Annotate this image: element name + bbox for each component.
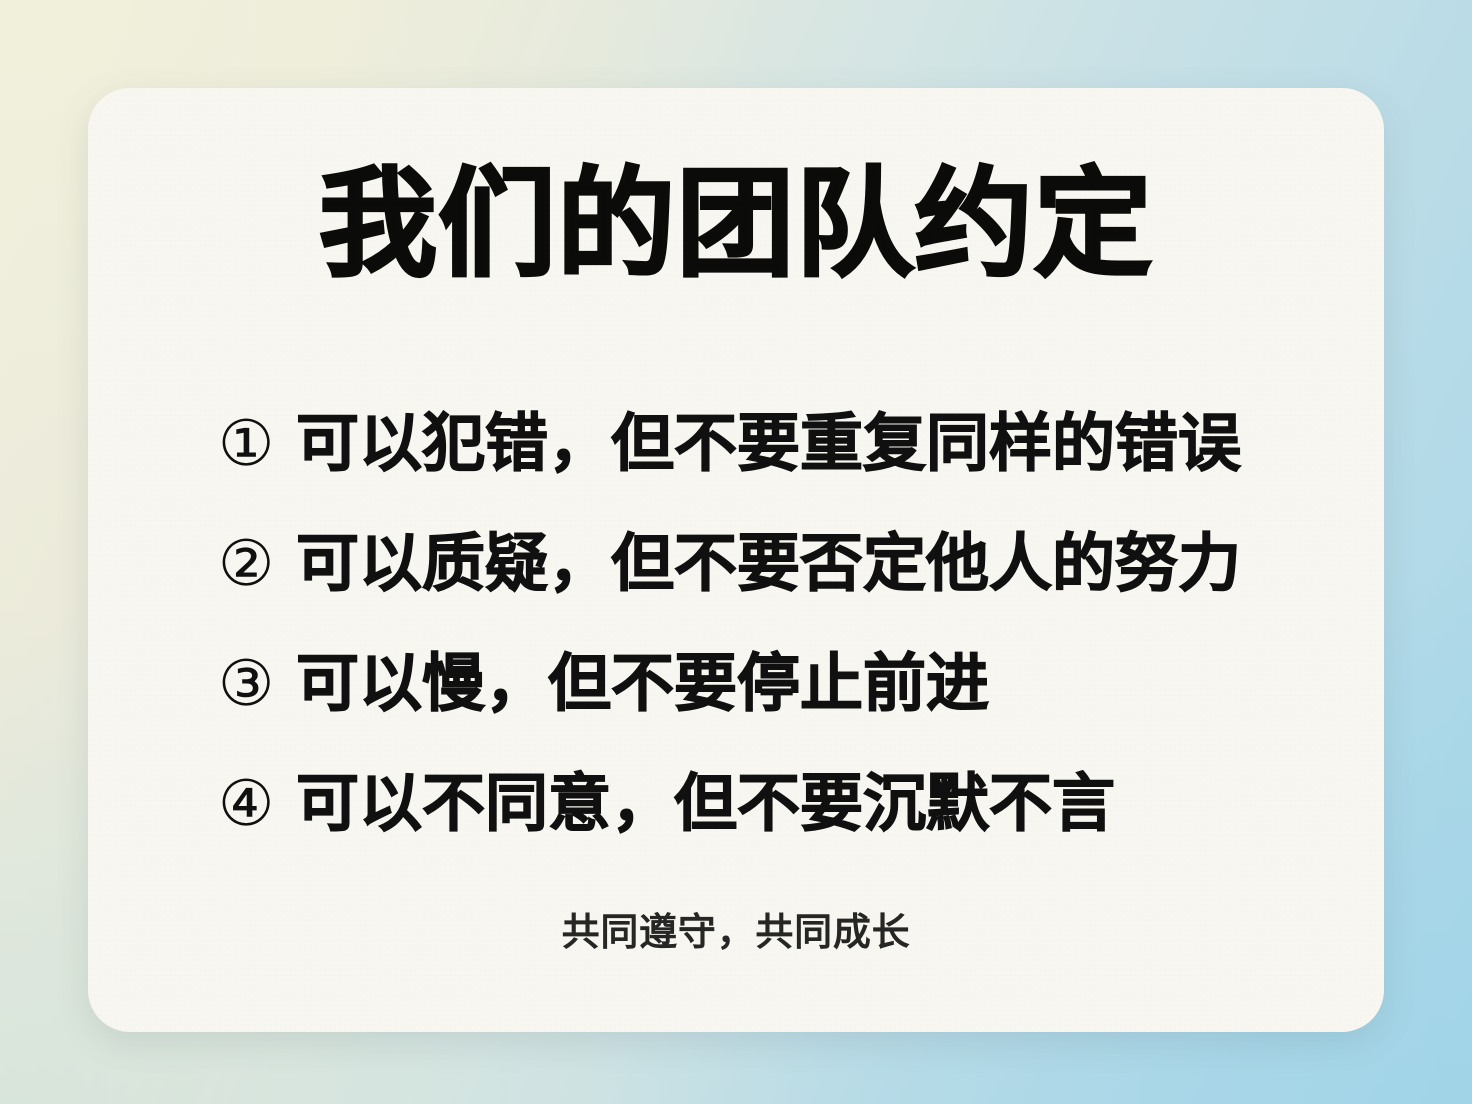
circled-number-2-icon: ② xyxy=(218,504,296,624)
rules-list: ① 可以犯错，但不要重复同样的错误 ② 可以质疑，但不要否定他人的努力 ③ 可以… xyxy=(218,384,1324,864)
poster-card-content: 我们的团队约定 ① 可以犯错，但不要重复同样的错误 ② 可以质疑，但不要否定他人… xyxy=(88,88,1384,1032)
circled-number-4-icon: ④ xyxy=(218,744,296,864)
poster-card: 我们的团队约定 ① 可以犯错，但不要重复同样的错误 ② 可以质疑，但不要否定他人… xyxy=(88,88,1384,1032)
list-item-label: 可以慢，但不要停止前进 xyxy=(296,624,1324,744)
list-item: ④ 可以不同意，但不要沉默不言 xyxy=(218,744,1324,864)
list-item-label: 可以不同意，但不要沉默不言 xyxy=(296,744,1324,864)
list-item: ① 可以犯错，但不要重复同样的错误 xyxy=(218,384,1324,504)
circled-number-1-icon: ① xyxy=(218,384,296,504)
list-item-label: 可以犯错，但不要重复同样的错误 xyxy=(296,384,1324,504)
footer-tagline: 共同遵守，共同成长 xyxy=(88,901,1384,956)
list-item-label: 可以质疑，但不要否定他人的努力 xyxy=(296,504,1324,624)
circled-number-3-icon: ③ xyxy=(218,624,296,744)
list-item: ② 可以质疑，但不要否定他人的努力 xyxy=(218,504,1324,624)
page-title: 我们的团队约定 xyxy=(88,162,1384,289)
list-item: ③ 可以慢，但不要停止前进 xyxy=(218,624,1324,744)
